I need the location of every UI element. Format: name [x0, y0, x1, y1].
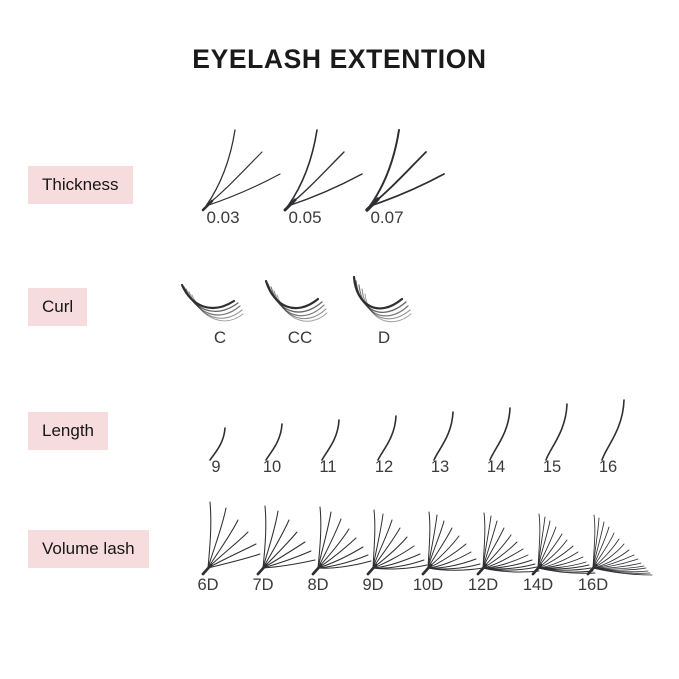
tick-volume-2: 8D [288, 576, 348, 595]
tick-length-4: 13 [410, 458, 470, 477]
lash-figure-curl-c [178, 263, 268, 333]
lash-figure-length-13 [428, 402, 468, 462]
row-label-volume-lash: Volume lash [28, 530, 149, 568]
lash-figure-length-15 [540, 396, 580, 462]
lash-figure-curl-d [346, 263, 436, 333]
tick-thickness-0: 0.03 [183, 208, 263, 228]
tick-volume-6: 14D [508, 576, 568, 595]
eyelash-extension-infographic: EYELASH EXTENTION Thickness [0, 0, 679, 679]
page-title: EYELASH EXTENTION [0, 44, 679, 75]
lash-figure-length-14 [484, 399, 524, 462]
tick-length-0: 9 [186, 458, 246, 477]
tick-volume-1: 7D [233, 576, 293, 595]
lash-figure-length-9 [204, 414, 244, 462]
lash-figure-curl-cc [262, 263, 352, 333]
tick-length-1: 10 [242, 458, 302, 477]
tick-curl-2: D [344, 328, 424, 348]
tick-volume-4: 10D [398, 576, 458, 595]
tick-volume-3: 9D [343, 576, 403, 595]
lash-figure-length-16 [596, 393, 636, 462]
row-curl: Curl [0, 255, 679, 360]
row-label-curl: Curl [28, 288, 87, 326]
tick-length-7: 16 [578, 458, 638, 477]
tick-length-6: 15 [522, 458, 582, 477]
tick-curl-1: CC [260, 328, 340, 348]
row-volume-lash: Volume lash [0, 498, 679, 603]
lash-figure-length-12 [372, 405, 412, 462]
tick-thickness-2: 0.07 [347, 208, 427, 228]
row-thickness: Thickness [0, 120, 679, 235]
tick-thickness-1: 0.05 [265, 208, 345, 228]
lash-figure-length-11 [316, 408, 356, 462]
row-length: Length [0, 392, 679, 482]
tick-length-5: 14 [466, 458, 526, 477]
tick-curl-0: C [180, 328, 260, 348]
tick-length-2: 11 [298, 458, 358, 477]
tick-volume-7: 16D [563, 576, 623, 595]
tick-volume-0: 6D [178, 576, 238, 595]
tick-length-3: 12 [354, 458, 414, 477]
lash-figure-thickness-007 [360, 124, 460, 214]
row-label-length: Length [28, 412, 108, 450]
lash-figure-length-10 [260, 411, 300, 462]
row-label-thickness: Thickness [28, 166, 133, 204]
lash-figure-volume-16d [581, 511, 653, 576]
tick-volume-5: 12D [453, 576, 513, 595]
